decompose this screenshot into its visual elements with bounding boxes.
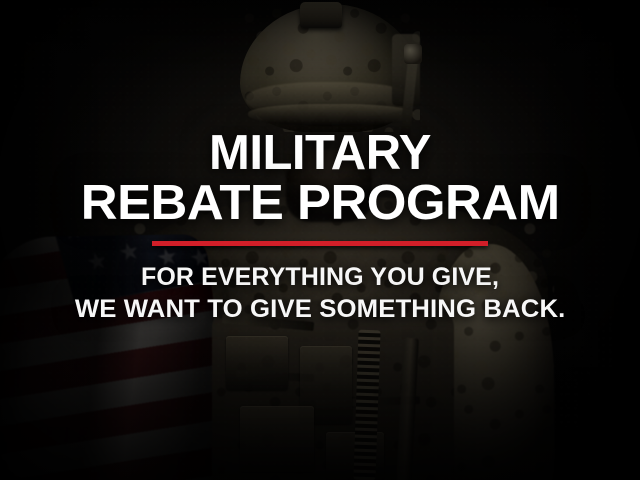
text-overlay: MILITARY REBATE PROGRAM FOR EVERYTHING Y… xyxy=(0,0,640,480)
headline-line-1: MILITARY xyxy=(209,129,431,177)
subheadline-line-2: WE WANT TO GIVE SOMETHING BACK. xyxy=(75,296,566,323)
red-divider-rule xyxy=(152,241,488,246)
subheadline-line-1: FOR EVERYTHING YOU GIVE, xyxy=(141,264,499,291)
military-rebate-banner: MILITARY REBATE PROGRAM FOR EVERYTHING Y… xyxy=(0,0,640,480)
headline-line-2: REBATE PROGRAM xyxy=(81,179,560,227)
